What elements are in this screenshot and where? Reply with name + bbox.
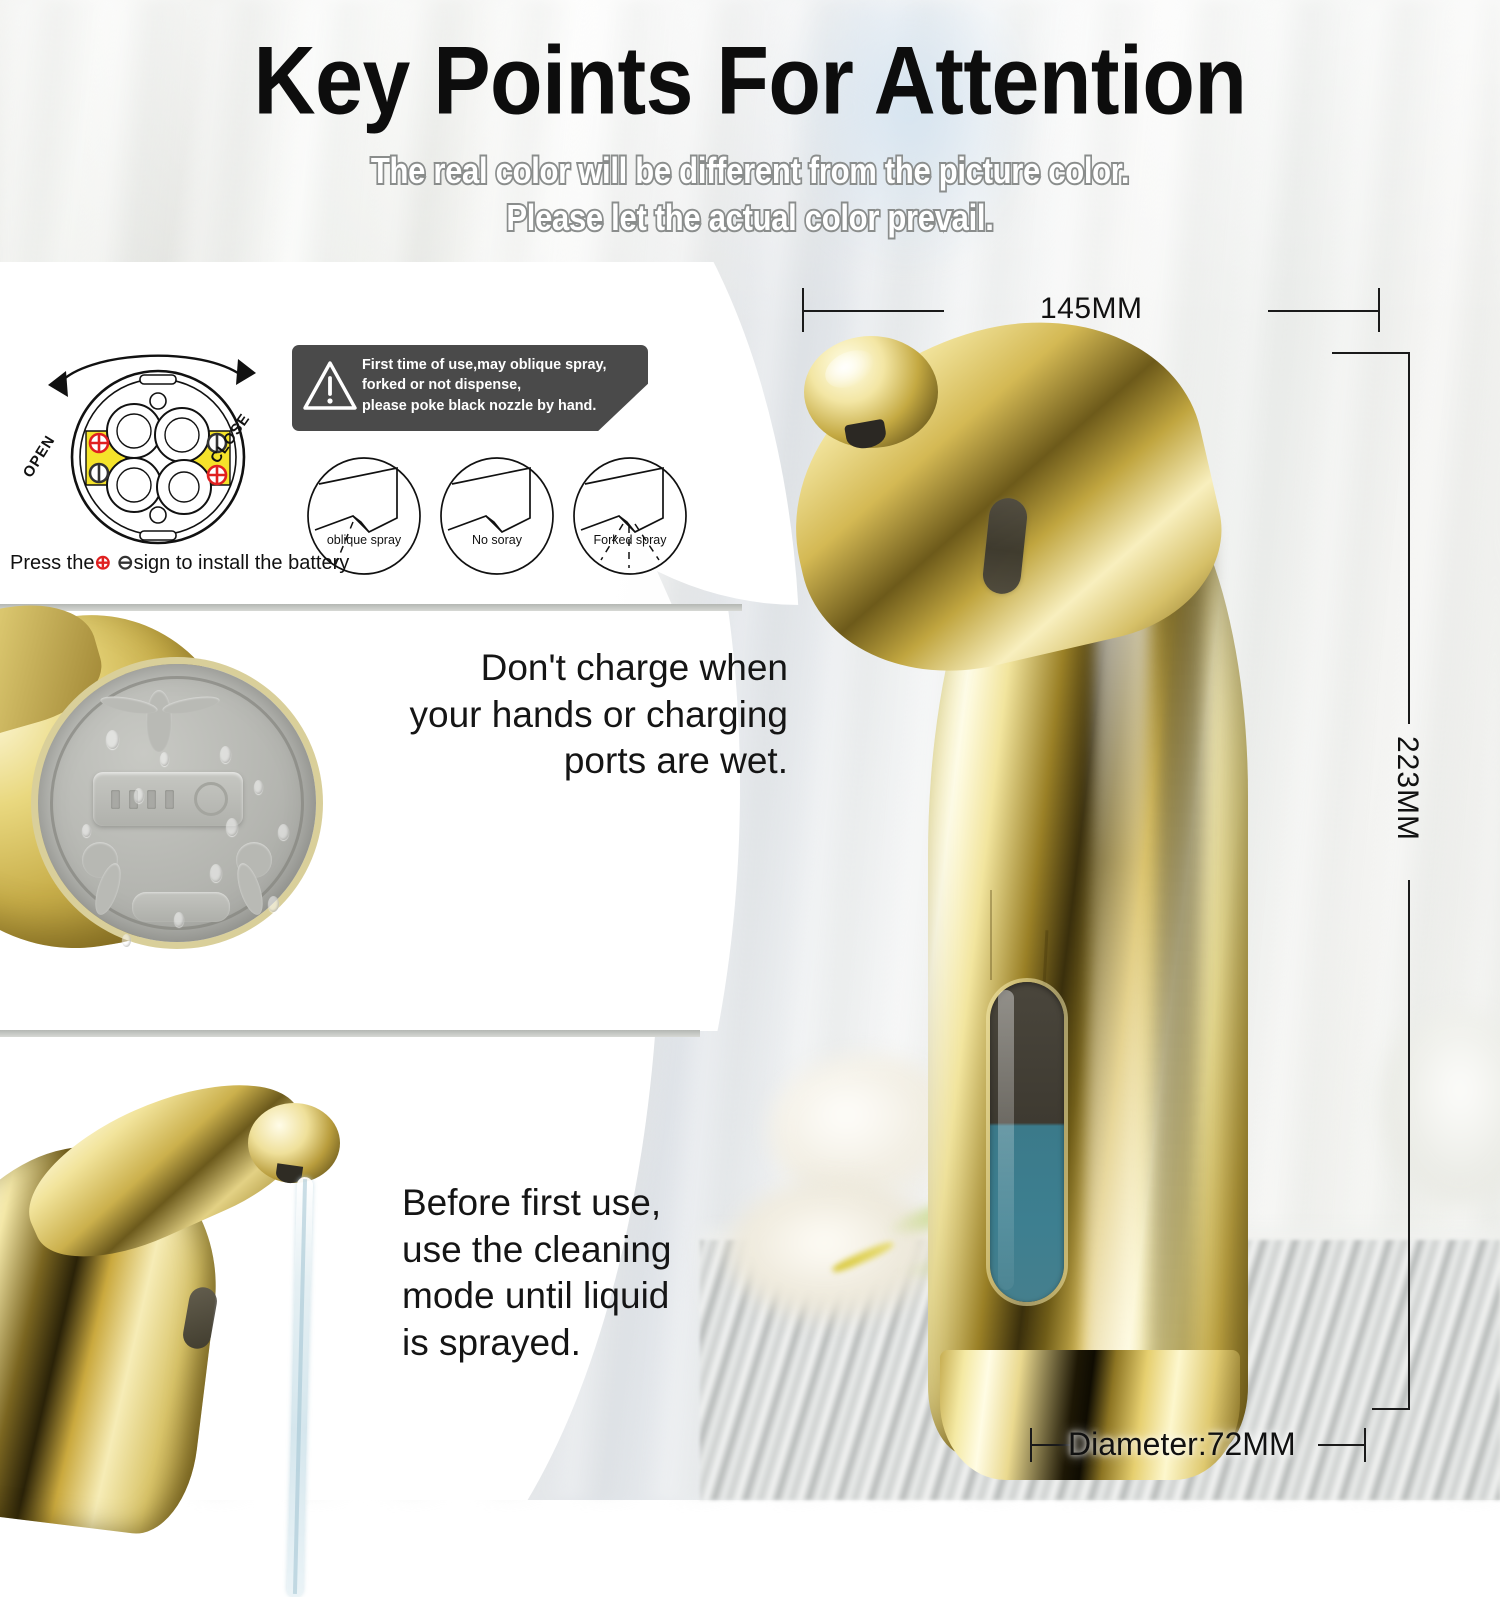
- main-product-photo: [790, 330, 1430, 1440]
- spray-label: Forked spray: [571, 533, 689, 547]
- battery-caption: Press the⊕ ⊖sign to install the battery: [10, 550, 349, 575]
- page-title: Key Points For Attention: [0, 26, 1500, 137]
- water-droplet: [134, 788, 144, 803]
- spray-label: No soray: [438, 533, 556, 547]
- infographic-canvas: Key Points For Attention The real color …: [0, 0, 1500, 1500]
- spray-illustrations: oblique spray No soray Forked spray: [305, 456, 695, 576]
- spray-label: oblique spray: [305, 533, 423, 547]
- water-droplet: [106, 730, 119, 749]
- width-dim-tick-right: [1378, 288, 1380, 332]
- diameter-dim-line-right: [1318, 1444, 1366, 1446]
- battery-compartment-diagram: OPEN CLOSE Press the⊕ ⊖sign to install t…: [10, 338, 300, 588]
- water-droplet: [278, 824, 289, 840]
- width-dim-line-left: [802, 310, 944, 312]
- height-dim-tick-bottom: [1372, 1408, 1410, 1410]
- water-droplet: [254, 780, 263, 794]
- water-droplet: [82, 824, 91, 837]
- water-droplet: [160, 752, 169, 766]
- charging-warning-text: Don't charge when your hands or charging…: [406, 645, 788, 785]
- base-fin-top: [146, 690, 172, 752]
- height-dimension-label: 223MM: [1390, 736, 1424, 841]
- panel-divider: [0, 604, 742, 611]
- subtitle-line-2: Please let the actual color prevail.: [0, 197, 1500, 239]
- spray-illustration-none: No soray: [438, 456, 556, 576]
- warning-triangle-icon: [302, 358, 358, 414]
- width-dimension-label: 145MM: [1040, 292, 1143, 326]
- warning-text: First time of use,may oblique spray, for…: [362, 355, 640, 416]
- water-droplet: [220, 746, 231, 763]
- charging-port-product-photo: [0, 612, 380, 1032]
- indicator-button-bar: [93, 772, 243, 826]
- warning-line-1: First time of use,may oblique spray,: [362, 355, 640, 375]
- water-droplet: [122, 934, 131, 947]
- diameter-dimension-label: Diameter:72MM: [1068, 1426, 1296, 1463]
- height-dim-tick-top: [1332, 352, 1410, 354]
- indicator-tick: [147, 790, 156, 809]
- indicator-tick: [165, 790, 174, 809]
- water-droplet: [210, 864, 222, 882]
- battery-cap-drawing: [42, 339, 274, 549]
- forked-spray-drawing: [571, 456, 689, 576]
- oblique-spray-drawing: [305, 456, 423, 576]
- product-seam-line: [990, 890, 992, 980]
- minus-sign-icon: ⊖: [117, 552, 134, 574]
- spraying-dispenser-photo: [0, 1095, 410, 1500]
- power-button-icon: [194, 782, 228, 816]
- warning-line-3: please poke black nozzle by hand.: [362, 396, 640, 416]
- width-dim-line-right: [1268, 310, 1380, 312]
- water-droplet: [268, 896, 279, 912]
- spray-illustration-oblique: oblique spray: [305, 456, 423, 576]
- water-droplet: [226, 818, 238, 836]
- diameter-dim-tick-right: [1364, 1428, 1366, 1462]
- water-droplet: [174, 912, 184, 927]
- liquid-window-gloss: [998, 990, 1014, 1290]
- height-dim-line-lower: [1408, 880, 1410, 1410]
- diameter-dim-line-left: [1030, 1444, 1070, 1446]
- no-spray-drawing: [438, 456, 556, 576]
- panel-divider: [0, 1030, 700, 1037]
- cleaning-mode-text: Before first use, use the cleaning mode …: [402, 1180, 692, 1366]
- warning-banner: First time of use,may oblique spray, for…: [292, 345, 648, 431]
- battery-caption-prefix: Press the: [10, 552, 94, 574]
- indicator-tick: [111, 790, 120, 809]
- warning-line-2: forked or not dispense,: [362, 375, 640, 395]
- plus-sign-icon: ⊕: [94, 552, 111, 574]
- subtitle-line-1: The real color will be different from th…: [0, 150, 1500, 192]
- spray-illustration-forked: Forked spray: [571, 456, 689, 576]
- height-dim-line-upper: [1408, 352, 1410, 724]
